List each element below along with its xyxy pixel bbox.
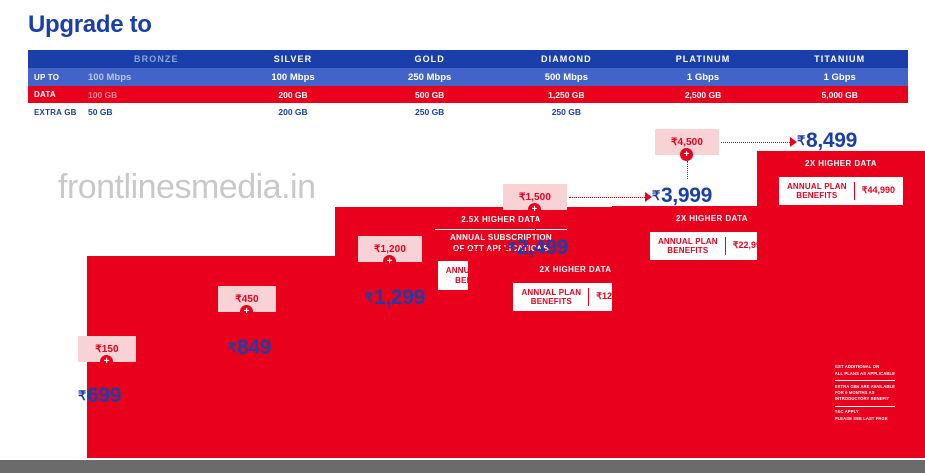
step-4-benefit-label: ANNUAL PLAN BENEFITS <box>658 237 726 255</box>
arrow-head-2 <box>359 294 366 304</box>
arrow-line-3 <box>424 249 501 250</box>
row-label-data: DATA <box>28 86 88 103</box>
step-3-benefit-label: ANNUAL PLAN BENEFITS <box>521 288 589 306</box>
row-label-up-to: UP TO <box>28 68 88 86</box>
speed-gold: 250 Mbps <box>361 68 498 86</box>
row-label-head <box>28 50 88 68</box>
arrow-line-4 <box>569 197 645 198</box>
currency-symbol-5: ₹ <box>652 188 660 203</box>
connector-vertical-4 <box>535 216 536 234</box>
speed-titanium: 1 Gbps <box>771 68 908 86</box>
connector-arrow-1 <box>138 344 228 354</box>
plus-icon-3: + <box>383 255 396 268</box>
step-2-headline: 2.5X HIGHER DATA <box>377 215 625 226</box>
price-699: ₹699 <box>78 384 121 408</box>
arrow-head-1 <box>221 344 228 354</box>
speed-silver: 100 Mbps <box>225 68 362 86</box>
connector-vertical-3 <box>390 268 391 286</box>
connector-arrow-4 <box>569 192 652 202</box>
step-5-benefit-badge: ANNUAL PLAN BENEFITS ₹44,990 <box>779 177 903 205</box>
plus-icon-5: + <box>680 148 693 161</box>
page-title: Upgrade to <box>28 13 152 37</box>
connector-arrow-2 <box>278 294 366 304</box>
plan-comparison-table: BRONZE SILVER GOLD DIAMOND PLATINUM TITA… <box>28 50 908 121</box>
footnote-3: T&C APPLY PLEASE SEE LAST PAGE <box>835 409 895 422</box>
step-2-rule <box>435 229 567 230</box>
column-header-gold: GOLD <box>361 50 498 68</box>
speed-bronze: 100 Mbps <box>88 68 225 86</box>
currency-symbol-1: ₹ <box>78 388 86 403</box>
arrow-line-5 <box>721 142 790 143</box>
speed-diamond: 500 Mbps <box>498 68 635 86</box>
plus-icon-4: + <box>528 203 541 216</box>
connector-vertical-5 <box>687 161 688 179</box>
arrow-head-4 <box>645 192 652 202</box>
currency-symbol-2: ₹ <box>228 340 236 355</box>
column-header-diamond: DIAMOND <box>498 50 635 68</box>
footnote-1: GST ADDITIONAL ON ALL PLANS AS APPLICABL… <box>835 364 895 377</box>
arrow-head-5 <box>790 137 797 147</box>
connector-arrow-5 <box>721 137 797 147</box>
currency-symbol-6: ₹ <box>797 133 805 148</box>
connector-vertical-2 <box>247 318 248 336</box>
column-header-platinum: PLATINUM <box>635 50 772 68</box>
upgrade-staircase: 2X HIGHER DATA 3 MONTHS SUBSCRIPTION OF … <box>0 118 925 458</box>
currency-symbol-4: ₹ <box>508 240 516 255</box>
price-3999: ₹3,999 <box>652 184 712 208</box>
table-row-data: DATA 100 GB 200 GB 500 GB 1,250 GB 2,500… <box>28 86 908 103</box>
step-5-benefit-value: ₹44,990 <box>855 185 895 196</box>
step-4-benefit-badge: ANNUAL PLAN BENEFITS ₹22,990 <box>650 232 774 260</box>
footnote-rule-1 <box>835 380 895 381</box>
arrow-head-3 <box>501 244 508 254</box>
footnote-rule-2 <box>835 406 895 407</box>
arrow-line-1 <box>138 349 221 350</box>
arrow-line-2 <box>278 299 359 300</box>
column-header-silver: SILVER <box>225 50 362 68</box>
step-5-benefit-label: ANNUAL PLAN BENEFITS <box>787 182 855 200</box>
data-silver: 200 GB <box>225 86 362 103</box>
price-8499: ₹8,499 <box>797 129 857 153</box>
price-1299: ₹1,299 <box>365 286 425 310</box>
data-bronze: 100 GB <box>88 86 225 103</box>
price-2499: ₹2,499 <box>508 236 568 260</box>
data-diamond: 1,250 GB <box>498 86 635 103</box>
footnote-2: EXTRA GBs ARE AVAILABLE FOR 6 MONTHS AS … <box>835 384 895 403</box>
column-header-titanium: TITANIUM <box>771 50 908 68</box>
data-platinum: 2,500 GB <box>635 86 772 103</box>
bottom-bar <box>0 460 925 473</box>
table-row-speed: UP TO 100 Mbps 100 Mbps 250 Mbps 500 Mbp… <box>28 68 908 86</box>
data-gold: 500 GB <box>361 86 498 103</box>
speed-platinum: 1 Gbps <box>635 68 772 86</box>
plus-icon-2: + <box>240 305 253 318</box>
plus-icon-1: + <box>100 355 113 368</box>
column-header-bronze: BRONZE <box>88 50 225 68</box>
price-849: ₹849 <box>228 336 271 360</box>
data-titanium: 5,000 GB <box>771 86 908 103</box>
connector-arrow-3 <box>424 244 508 254</box>
footnotes: GST ADDITIONAL ON ALL PLANS AS APPLICABL… <box>835 364 895 422</box>
table-header-row: BRONZE SILVER GOLD DIAMOND PLATINUM TITA… <box>28 50 908 68</box>
step-5-headline: 2X HIGHER DATA <box>757 159 925 170</box>
currency-symbol-3: ₹ <box>365 290 373 305</box>
